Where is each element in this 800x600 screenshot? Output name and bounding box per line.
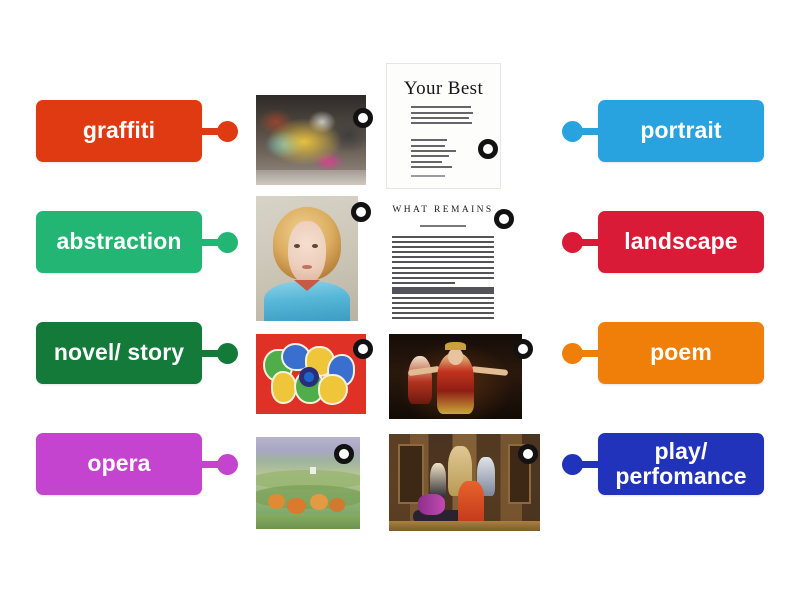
poem-body-lines <box>411 106 474 171</box>
connector-knob-landscape[interactable] <box>562 232 583 253</box>
connector-knob-portrait[interactable] <box>562 121 583 142</box>
prose-body-lines <box>392 236 493 321</box>
media-card-child-portrait[interactable] <box>256 196 358 321</box>
target-graffiti-wall[interactable] <box>353 108 373 128</box>
label-tile-graffiti[interactable]: graffiti <box>36 100 202 162</box>
label-text-opera: opera <box>46 451 192 476</box>
prose-subtitle-line <box>420 225 467 227</box>
label-text-abstraction: abstraction <box>46 229 192 254</box>
label-tile-abstraction[interactable]: abstraction <box>36 211 202 273</box>
abstract-painting-image <box>256 334 366 414</box>
connector-knob-poem[interactable] <box>562 343 583 364</box>
label-text-landscape: landscape <box>608 229 754 254</box>
matching-board: graffiti abstraction novel/ story opera … <box>0 0 800 600</box>
poem-signature-line <box>411 175 445 177</box>
label-text-play-perfomance: play/ perfomance <box>608 439 754 490</box>
graffiti-wall-image <box>256 95 366 185</box>
label-tile-portrait[interactable]: portrait <box>598 100 764 162</box>
target-child-portrait[interactable] <box>351 202 371 222</box>
prose-title: WHAT REMAINS <box>378 205 508 215</box>
connector-knob-opera[interactable] <box>217 454 238 475</box>
poem-page-image: Your Best <box>387 64 500 188</box>
label-text-play-line2: perfomance <box>615 463 746 489</box>
media-card-prose-page[interactable]: WHAT REMAINS <box>378 196 508 321</box>
target-prose-page[interactable] <box>494 209 514 229</box>
media-card-opera-stage[interactable] <box>389 334 522 419</box>
label-tile-landscape[interactable]: landscape <box>598 211 764 273</box>
label-text-poem: poem <box>608 340 754 365</box>
label-text-play-line1: play/ <box>655 438 708 464</box>
label-text-graffiti: graffiti <box>46 118 192 143</box>
media-card-graffiti-wall[interactable] <box>256 95 366 185</box>
target-abstract-art[interactable] <box>353 339 373 359</box>
media-card-abstract-art[interactable] <box>256 334 366 414</box>
media-card-play-stage[interactable] <box>389 434 540 531</box>
target-poem-page[interactable] <box>478 139 498 159</box>
label-tile-novel-story[interactable]: novel/ story <box>36 322 202 384</box>
opera-performance-image <box>389 334 522 419</box>
connector-knob-play-perfomance[interactable] <box>562 454 583 475</box>
target-opera-stage[interactable] <box>513 339 533 359</box>
connector-knob-novel-story[interactable] <box>217 343 238 364</box>
theatre-play-image <box>389 434 540 531</box>
target-landscape-art[interactable] <box>334 444 354 464</box>
target-play-stage[interactable] <box>518 444 538 464</box>
label-tile-play-perfomance[interactable]: play/ perfomance <box>598 433 764 495</box>
prose-page-image: WHAT REMAINS <box>378 196 508 321</box>
connector-knob-graffiti[interactable] <box>217 121 238 142</box>
poem-title: Your Best <box>387 78 500 100</box>
label-tile-poem[interactable]: poem <box>598 322 764 384</box>
label-tile-opera[interactable]: opera <box>36 433 202 495</box>
media-card-poem-page[interactable]: Your Best <box>386 63 501 189</box>
label-text-novel-story: novel/ story <box>46 340 192 365</box>
child-portrait-image <box>256 196 358 321</box>
label-text-portrait: portrait <box>608 118 754 143</box>
connector-knob-abstraction[interactable] <box>217 232 238 253</box>
